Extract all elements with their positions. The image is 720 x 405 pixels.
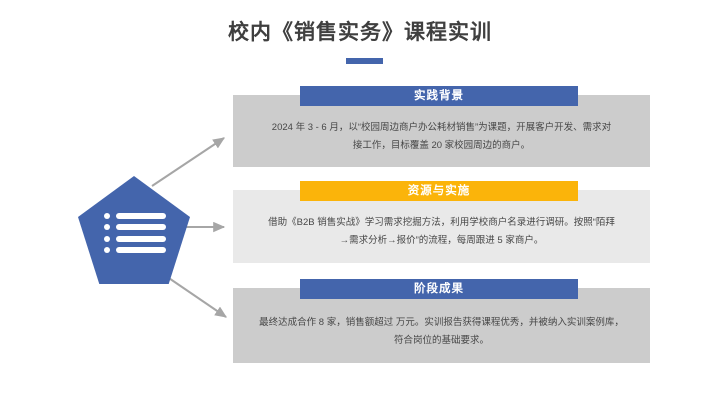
card-body-line: →需求分析→报价”的流程，每周跟进 5 家商户。 (247, 232, 636, 250)
card-resources-implementation[interactable]: 资源与实施 借助《B2B 销售实战》学习需求挖掘方法，利用学校商户名录进行调研。… (233, 190, 650, 263)
hub-pentagon[interactable] (78, 176, 190, 284)
card-body-text: 2024 年 3 - 6 月，以“校园周边商户办公耗材销售”为课题，开展客户开发… (247, 119, 636, 155)
card-stage-results[interactable]: 阶段成果 最终达成合作 8 家，销售额超过 万元。实训报告获得课程优秀，并被纳入… (233, 288, 650, 363)
list-bullet-dot (104, 213, 110, 219)
list-row (104, 247, 166, 254)
list-bullet-dot (104, 236, 110, 242)
list-bar (116, 224, 166, 230)
list-bar (116, 236, 166, 242)
title-underline-bar (346, 58, 383, 64)
card-practice-background[interactable]: 实践背景 2024 年 3 - 6 月，以“校园周边商户办公耗材销售”为课题，开… (233, 95, 650, 167)
list-row (104, 212, 166, 219)
list-row (104, 235, 166, 242)
bulleted-list-icon (104, 212, 166, 254)
list-bullet-dot (104, 224, 110, 230)
card-body-text: 借助《B2B 销售实战》学习需求挖掘方法，利用学校商户名录进行调研。按照“陌拜 … (247, 214, 636, 250)
slide-canvas: 校内《销售实务》课程实训 (0, 0, 720, 405)
list-bar (116, 213, 166, 219)
card-body-line: 借助《B2B 销售实战》学习需求挖掘方法，利用学校商户名录进行调研。按照“陌拜 (247, 214, 636, 232)
page-title: 校内《销售实务》课程实训 (0, 18, 720, 48)
list-bar (116, 247, 166, 253)
card-body-line: 符合岗位的基础要求。 (247, 332, 636, 350)
card-header-title: 实践背景 (300, 86, 578, 106)
card-header-title: 资源与实施 (300, 181, 578, 201)
card-header-title: 阶段成果 (300, 279, 578, 299)
list-row (104, 224, 166, 231)
card-body-line: 接工作，目标覆盖 20 家校园周边的商户。 (247, 137, 636, 155)
card-body-line: 最终达成合作 8 家，销售额超过 万元。实训报告获得课程优秀，并被纳入实训案例库… (247, 314, 636, 332)
card-body-text: 最终达成合作 8 家，销售额超过 万元。实训报告获得课程优秀，并被纳入实训案例库… (247, 314, 636, 350)
list-bullet-dot (104, 247, 110, 253)
card-body-line: 2024 年 3 - 6 月，以“校园周边商户办公耗材销售”为课题，开展客户开发… (247, 119, 636, 137)
